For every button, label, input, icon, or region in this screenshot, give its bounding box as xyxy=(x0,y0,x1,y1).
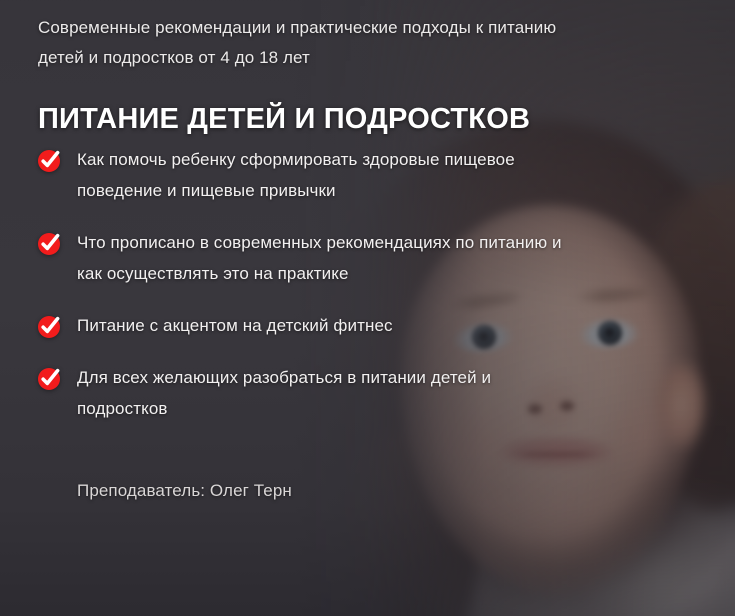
instructor-label: Преподаватель: Олег Терн xyxy=(77,479,292,503)
check-circle-icon xyxy=(38,314,62,338)
list-item: Что прописано в современных рекомендация… xyxy=(38,227,568,289)
list-item: Для всех желающих разобраться в питании … xyxy=(38,362,568,424)
list-item-label: Питание с акцентом на детский фитнес xyxy=(77,310,393,341)
list-item-label: Что прописано в современных рекомендация… xyxy=(77,227,568,289)
check-circle-icon xyxy=(38,231,62,255)
list-item-label: Для всех желающих разобраться в питании … xyxy=(77,362,568,424)
banner-subtitle: Современные рекомендации и практические … xyxy=(38,13,598,73)
list-item: Питание с акцентом на детский фитнес xyxy=(38,310,568,341)
check-circle-icon xyxy=(38,148,62,172)
list-item-label: Как помочь ребенку сформировать здоровые… xyxy=(77,144,568,206)
list-item: Как помочь ребенку сформировать здоровые… xyxy=(38,144,568,206)
page-title: ПИТАНИЕ ДЕТЕЙ И ПОДРОСТКОВ xyxy=(38,102,530,136)
banner-content: Современные рекомендации и практические … xyxy=(0,0,735,616)
check-circle-icon xyxy=(38,366,62,390)
benefits-list: Как помочь ребенку сформировать здоровые… xyxy=(38,144,568,424)
course-promo-banner: Современные рекомендации и практические … xyxy=(0,0,735,616)
